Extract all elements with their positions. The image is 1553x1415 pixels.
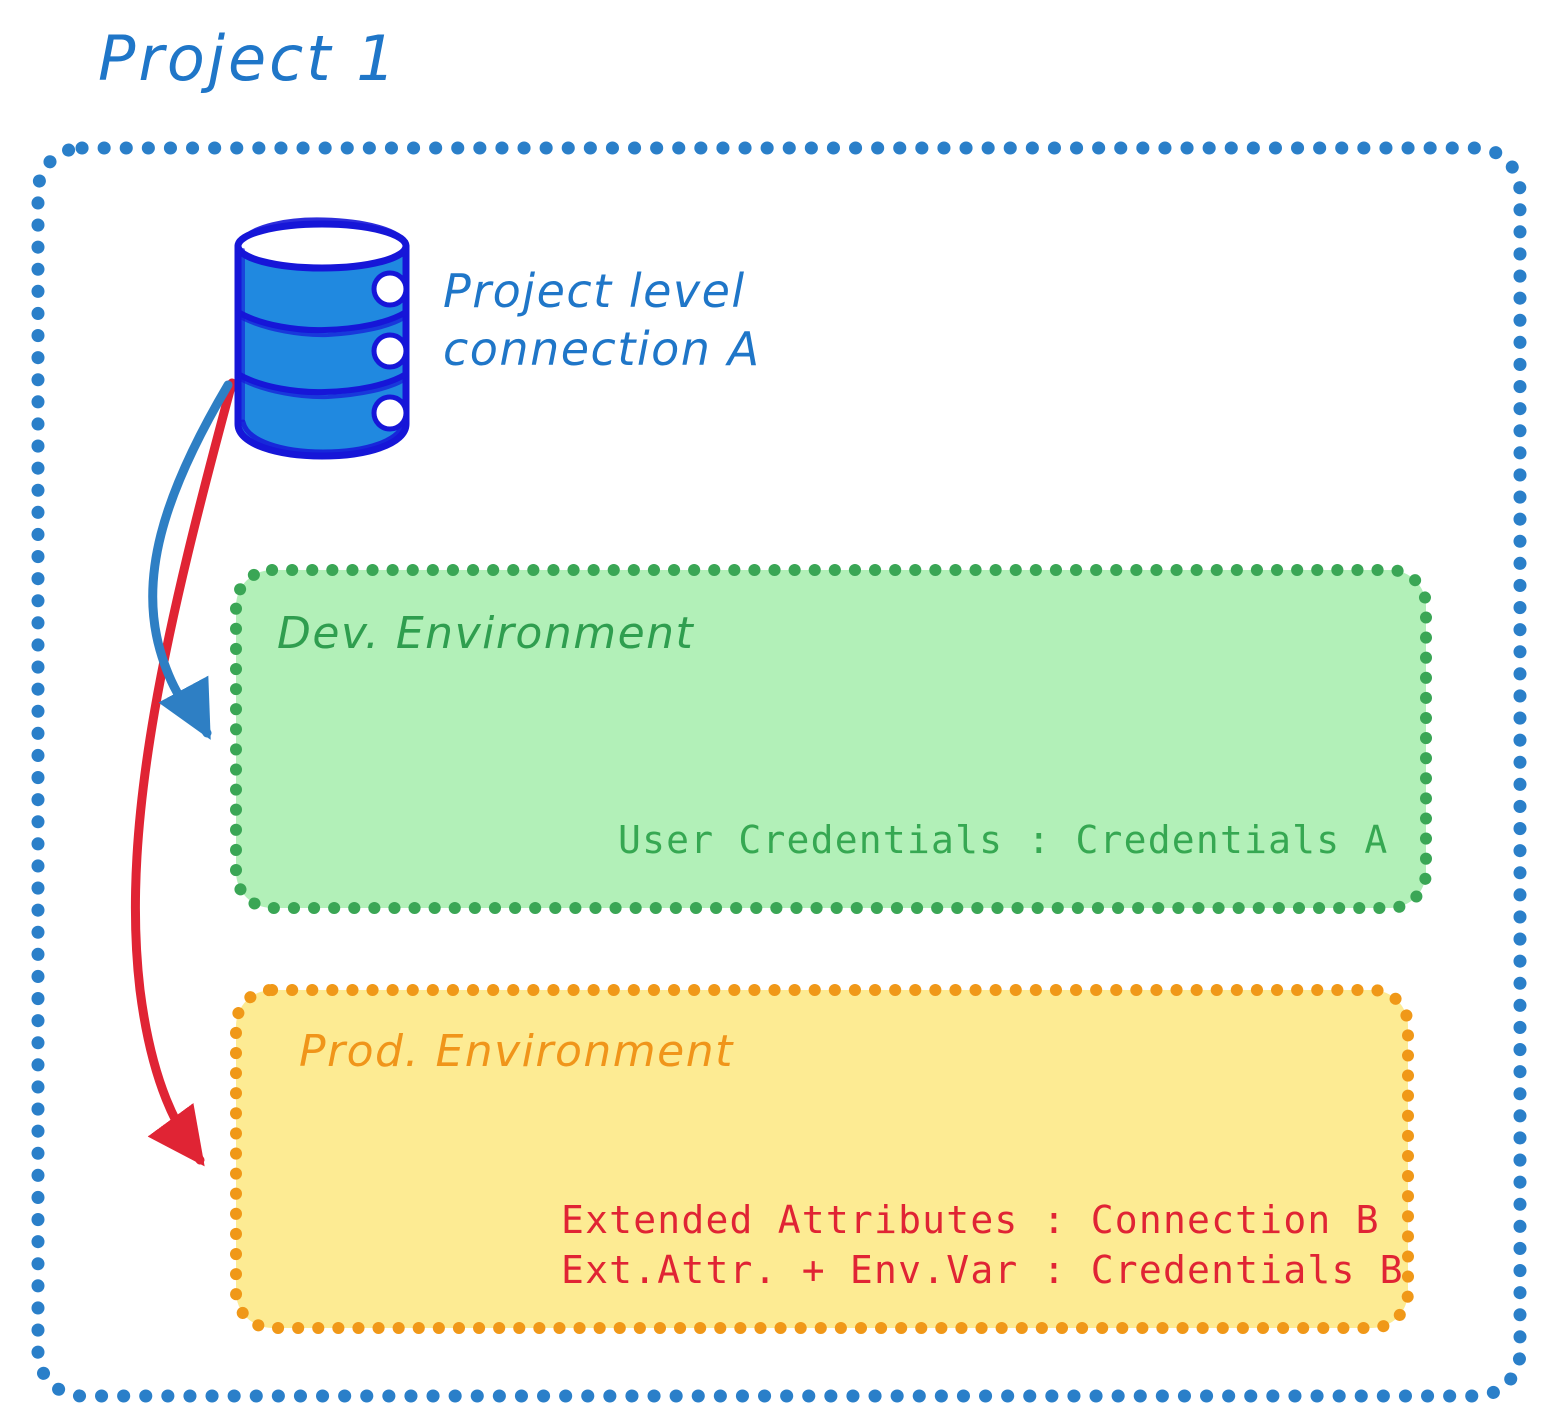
database-label: Project levelconnection A: [443, 262, 761, 378]
prod-extended-attributes-text: Extended Attributes : Connection B: [561, 1198, 1380, 1242]
dev-environment-title: Dev. Environment: [277, 608, 694, 659]
database-label-line2: connection A: [443, 322, 761, 376]
database-label-line1: Project level: [443, 264, 746, 318]
dev-credentials-text: User Credentials : Credentials A: [618, 818, 1389, 862]
database-port-icon: [374, 273, 406, 429]
database-cylinder-icon[interactable]: [238, 220, 406, 456]
prod-environment-title: Prod. Environment: [299, 1026, 734, 1077]
diagram-canvas: Project 1 Project levelconnection A Dev.…: [0, 0, 1553, 1415]
page-title: Project 1: [98, 22, 399, 95]
arrow-db-to-prod: [135, 383, 232, 1160]
prod-credentials-text: Ext.Attr. + Env.Var : Credentials B: [561, 1248, 1404, 1292]
